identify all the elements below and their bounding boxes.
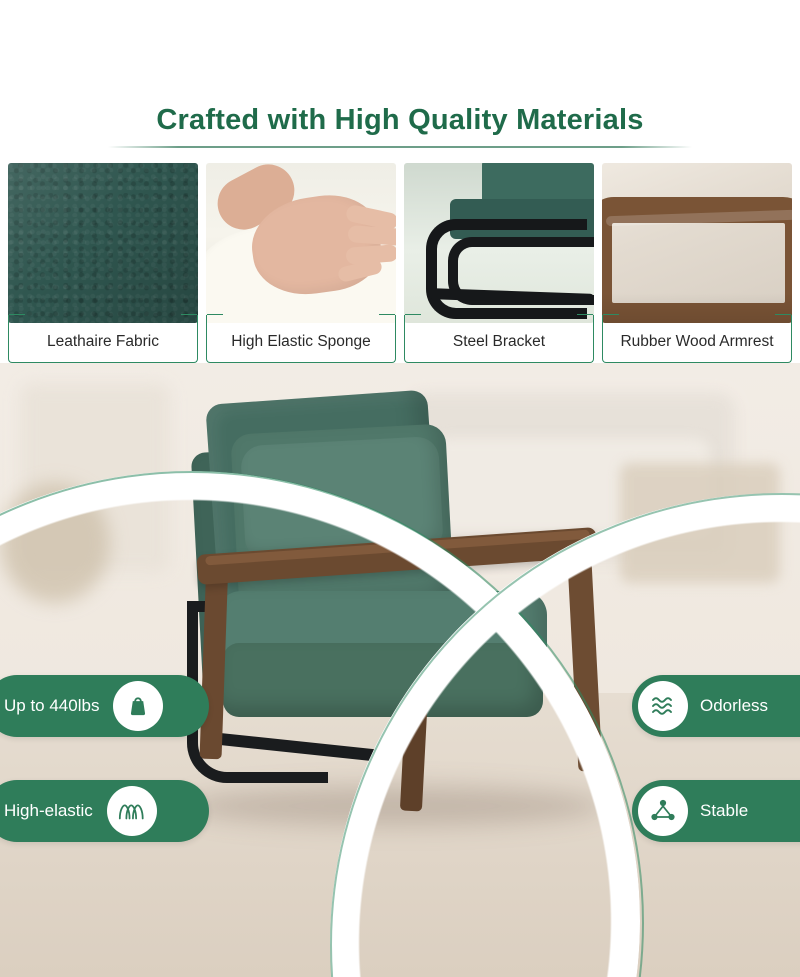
material-caption-frame — [8, 315, 198, 363]
odor-waves-icon — [638, 681, 688, 731]
weight-icon — [113, 681, 163, 731]
feature-label: Up to 440lbs — [4, 696, 99, 716]
feature-label: Stable — [700, 801, 748, 821]
materials-strip: Leathaire Fabric High Elastic Sponge — [8, 163, 792, 363]
material-card-steel-bracket: Steel Bracket — [404, 163, 594, 363]
page-title: Crafted with High Quality Materials — [0, 104, 800, 137]
feature-label: Odorless — [700, 696, 768, 716]
wood-armrest-image — [602, 163, 792, 323]
feature-label: High-elastic — [4, 801, 93, 821]
product-feature-infographic: Crafted with High Quality Materials Leat… — [0, 0, 800, 977]
material-card-high-elastic-sponge: High Elastic Sponge — [206, 163, 396, 363]
feature-badge-weight-capacity: Up to 440lbs — [0, 675, 209, 737]
feature-badge-odorless: Odorless — [632, 675, 800, 737]
stability-nodes-icon — [638, 786, 688, 836]
leather-swatch-image — [8, 163, 198, 323]
material-caption-frame — [404, 315, 594, 363]
material-card-leathaire-fabric: Leathaire Fabric — [8, 163, 198, 363]
feature-badge-stable: Stable — [632, 780, 800, 842]
feature-badge-high-elastic: High-elastic — [0, 780, 209, 842]
hand-pressing-foam-image — [206, 163, 396, 323]
material-card-rubber-wood-armrest: Rubber Wood Armrest — [602, 163, 792, 363]
leather-sheen — [8, 163, 198, 323]
steel-bracket-image — [404, 163, 594, 323]
material-caption-frame — [206, 315, 396, 363]
material-caption-frame — [602, 315, 792, 363]
spring-icon — [107, 786, 157, 836]
title-underline — [108, 146, 692, 148]
hero-product-photo — [0, 363, 800, 977]
